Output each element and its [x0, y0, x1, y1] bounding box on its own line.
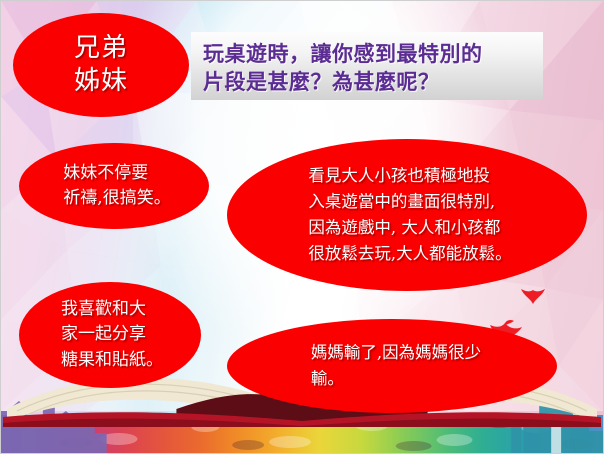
slide-title: 玩桌遊時，讓你感到最特別的 片段是甚麼？為甚麼呢？: [203, 40, 483, 95]
title-banner: 玩桌遊時，讓你感到最特別的 片段是甚麼？為甚麼呢？: [191, 32, 543, 100]
response-text-1: 妹妹不停要 祈禱,很搞笑。: [57, 161, 170, 212]
response-text-2: 我喜歡和大 家一起分享 糖果和貼紙。: [57, 297, 163, 374]
response-bubble-1[interactable]: 妹妹不停要 祈禱,很搞笑。: [19, 143, 209, 229]
response-bubble-2[interactable]: 我喜歡和大 家一起分享 糖果和貼紙。: [19, 282, 201, 388]
response-bubble-4[interactable]: 媽媽輸了,因為媽媽很少 輸。: [227, 319, 557, 413]
presentation-slide: 玩桌遊時，讓你感到最特別的 片段是甚麼？為甚麼呢？ 兄弟 姊妹 妹妹不停要 祈禱…: [0, 0, 604, 454]
response-bubble-3[interactable]: 看見大人小孩也積極地投 入桌遊當中的畫面很特別, 因為遊戲中, 大人和小孩都 很…: [227, 139, 587, 291]
response-text-3: 看見大人小孩也積極地投 入桌遊當中的畫面很特別, 因為遊戲中, 大人和小孩都 很…: [302, 163, 511, 267]
category-label-bubble[interactable]: 兄弟 姊妹: [13, 13, 189, 117]
response-text-4: 媽媽輸了,因為媽媽很少 輸。: [303, 340, 481, 391]
category-label-text: 兄弟 姊妹: [74, 32, 128, 99]
red-bird-icon: [520, 286, 546, 306]
